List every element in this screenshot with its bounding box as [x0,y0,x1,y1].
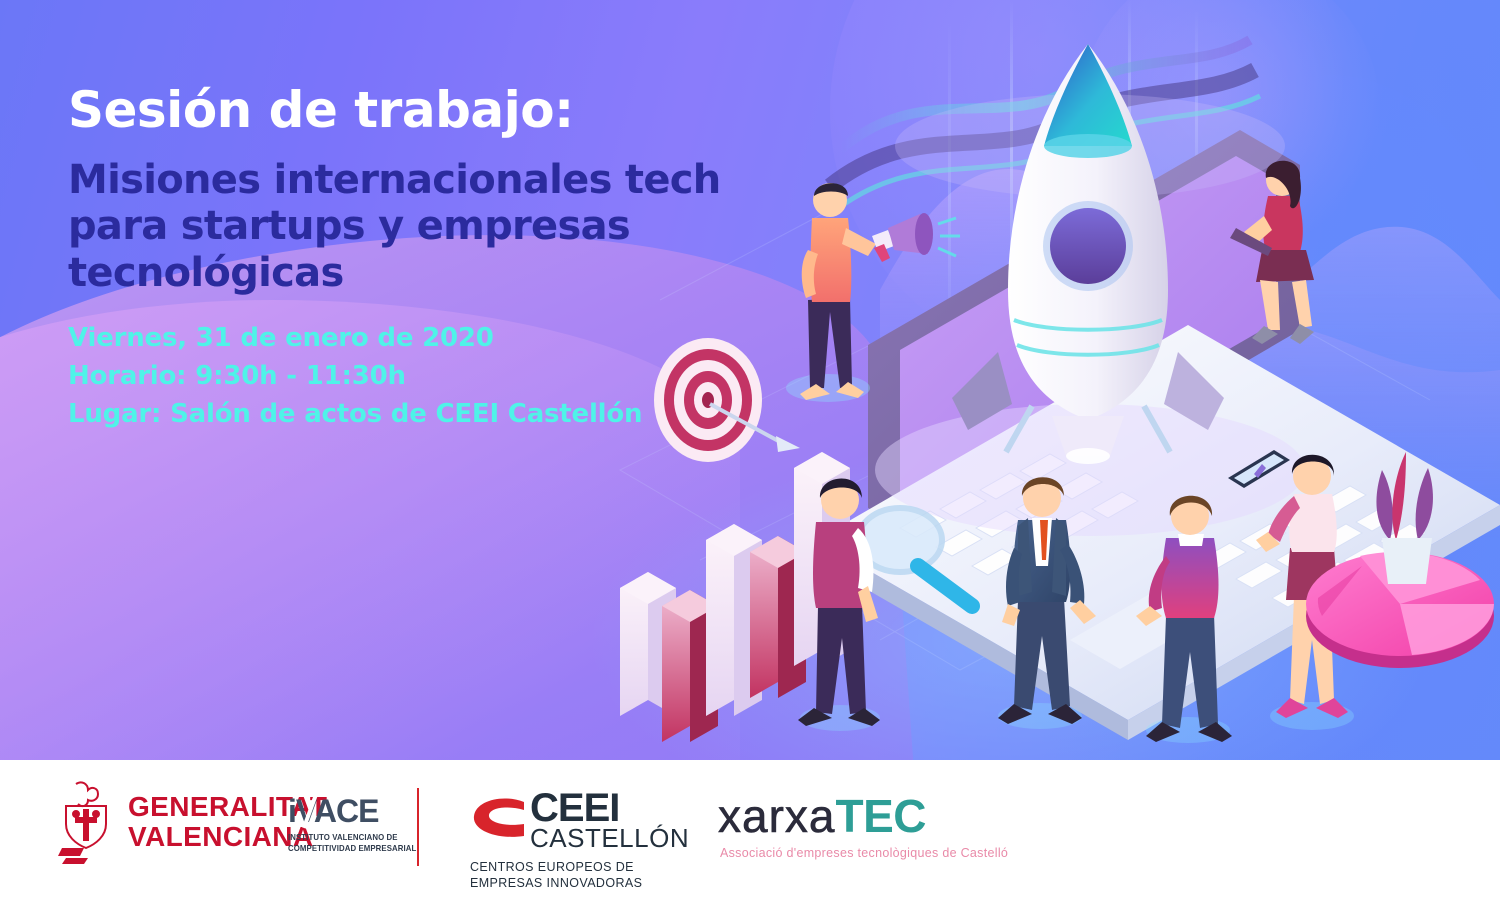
ceei-swoosh-icon [470,796,528,842]
event-place: Lugar: Salón de actos de CEEI Castellón [68,396,888,434]
poster-title-line2: para startups y empresas tecnológicas [68,203,888,296]
footer-divider [417,788,419,866]
ceei-city: CASTELLÓN [530,825,689,851]
event-time: Horario: 9:30h - 11:30h [68,358,888,396]
logo-ivace: iVACE INSTITUTO VALENCIANO DE COMPETITIV… [288,795,428,853]
ceei-sub-line2: EMPRESAS INNOVADORAS [470,875,689,891]
event-date: Viernes, 31 de enero de 2020 [68,320,888,358]
logo-generalitat-valenciana: GENERALITAT VALENCIANA [58,780,327,864]
ceei-sub-line1: CENTROS EUROPEOS DE [470,859,689,875]
ivace-sub-line2: COMPETITIVIDAD EMPRESARIAL [288,843,416,854]
logo-ceei-castellon: CEEI CASTELLÓN CENTROS EUROPEOS DE EMPRE… [470,790,689,891]
ivace-sub-line1: INSTITUTO VALENCIANO DE [288,832,416,843]
logo-xarxatec: xarxa TEC Associació d'empreses tecnològ… [718,793,1008,860]
xarxatec-bold-word: TEC [835,793,926,839]
ceei-wordmark: CEEI [530,790,689,827]
poster-title-line1: Misiones internacionales tech [68,157,888,203]
event-poster: Sesión de trabajo: Misiones internaciona… [0,0,1500,900]
gva-crest-icon [58,780,114,864]
poster-details: Viernes, 31 de enero de 2020 Horario: 9:… [68,320,888,433]
poster-kicker: Sesión de trabajo: [68,84,888,137]
poster-text-block: Sesión de trabajo: Misiones internaciona… [68,84,888,433]
xarxatec-thin-word: xarxa [718,793,835,839]
ivace-subtitle: INSTITUTO VALENCIANO DE COMPETITIVIDAD E… [288,832,416,853]
ivace-wordmark: iVACE [288,795,378,827]
xarxatec-subtitle: Associació d'empreses tecnològiques de C… [720,846,1008,860]
ceei-subtitle: CENTROS EUROPEOS DE EMPRESAS INNOVADORAS [470,859,689,892]
poster-title: Misiones internacionales tech para start… [68,157,888,296]
